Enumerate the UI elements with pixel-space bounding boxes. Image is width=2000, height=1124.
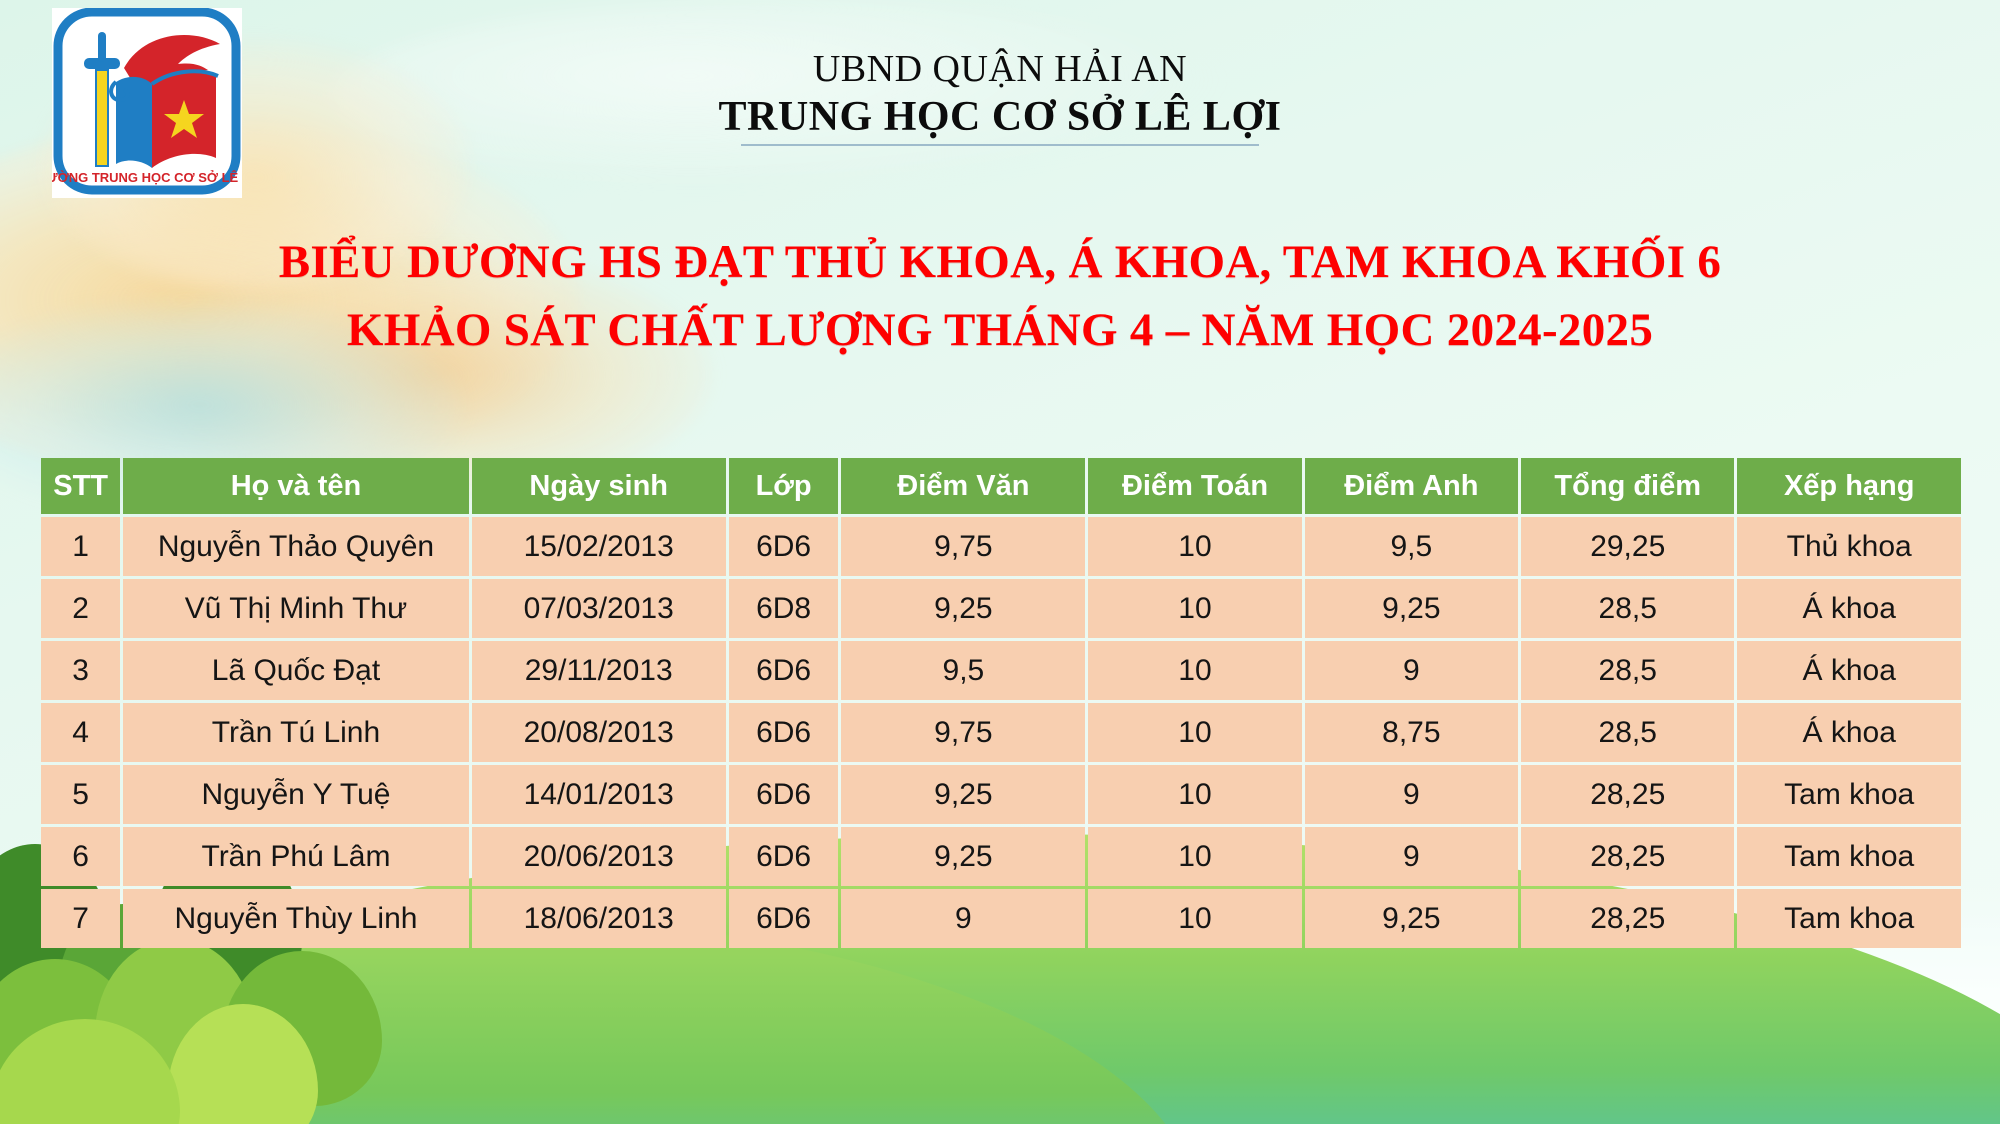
column-header-class: Lớp xyxy=(729,458,839,514)
cell-stt: 1 xyxy=(41,517,120,576)
cell-english: 8,75 xyxy=(1305,703,1518,762)
school-logo: TRƯỜNG TRUNG HỌC CƠ SỞ LÊ LỢI xyxy=(52,8,242,198)
cell-total: 28,25 xyxy=(1521,827,1734,886)
column-header-dob: Ngày sinh xyxy=(472,458,726,514)
cell-class: 6D6 xyxy=(729,765,839,824)
cell-stt: 5 xyxy=(41,765,120,824)
column-header-name: Họ và tên xyxy=(123,458,468,514)
cell-class: 6D6 xyxy=(729,703,839,762)
cell-dob: 20/08/2013 xyxy=(472,703,726,762)
score-table-head: STT Họ và tên Ngày sinh Lớp Điểm Văn Điể… xyxy=(41,458,1961,514)
cell-math: 10 xyxy=(1088,703,1301,762)
school-line-wrapper: TRUNG HỌC CƠ SỞ LÊ LỢI xyxy=(719,92,1282,142)
table-row: 2Vũ Thị Minh Thư07/03/20136D89,25109,252… xyxy=(41,579,1961,638)
cell-dob: 14/01/2013 xyxy=(472,765,726,824)
cell-math: 10 xyxy=(1088,765,1301,824)
school-line: TRUNG HỌC CƠ SỞ LÊ LỢI xyxy=(719,94,1282,140)
table-header-row: STT Họ và tên Ngày sinh Lớp Điểm Văn Điể… xyxy=(41,458,1961,514)
cell-english: 9 xyxy=(1305,827,1518,886)
cell-class: 6D6 xyxy=(729,641,839,700)
cell-rank: Tam khoa xyxy=(1737,765,1961,824)
cell-rank: Á khoa xyxy=(1737,641,1961,700)
cell-stt: 3 xyxy=(41,641,120,700)
table-row: 6Trần Phú Lâm20/06/20136D69,2510928,25Ta… xyxy=(41,827,1961,886)
cell-literature: 9,25 xyxy=(841,765,1085,824)
cell-math: 10 xyxy=(1088,641,1301,700)
cell-math: 10 xyxy=(1088,889,1301,948)
cell-literature: 9 xyxy=(841,889,1085,948)
column-header-math: Điểm Toán xyxy=(1088,458,1301,514)
cell-rank: Á khoa xyxy=(1737,703,1961,762)
cell-english: 9,25 xyxy=(1305,889,1518,948)
org-line: UBND QUẬN HẢI AN xyxy=(380,46,1620,92)
cell-name: Vũ Thị Minh Thư xyxy=(123,579,468,638)
cell-stt: 6 xyxy=(41,827,120,886)
cell-name: Nguyễn Y Tuệ xyxy=(123,765,468,824)
column-header-stt: STT xyxy=(41,458,120,514)
table-row: 7Nguyễn Thùy Linh18/06/20136D69109,2528,… xyxy=(41,889,1961,948)
cell-english: 9 xyxy=(1305,765,1518,824)
cell-class: 6D6 xyxy=(729,827,839,886)
cell-rank: Á khoa xyxy=(1737,579,1961,638)
sky-wisp xyxy=(240,935,1340,1055)
cell-english: 9 xyxy=(1305,641,1518,700)
page-title-line-2: KHẢO SÁT CHẤT LƯỢNG THÁNG 4 – NĂM HỌC 20… xyxy=(0,296,2000,364)
cell-name: Trần Phú Lâm xyxy=(123,827,468,886)
cell-stt: 7 xyxy=(41,889,120,948)
cell-math: 10 xyxy=(1088,827,1301,886)
cell-rank: Tam khoa xyxy=(1737,827,1961,886)
page-title: BIỂU DƯƠNG HS ĐẠT THỦ KHOA, Á KHOA, TAM … xyxy=(0,228,2000,364)
cell-english: 9,5 xyxy=(1305,517,1518,576)
cell-dob: 07/03/2013 xyxy=(472,579,726,638)
cell-total: 28,5 xyxy=(1521,579,1734,638)
cell-math: 10 xyxy=(1088,579,1301,638)
cell-dob: 15/02/2013 xyxy=(472,517,726,576)
cell-total: 28,5 xyxy=(1521,703,1734,762)
bush-5 xyxy=(95,939,255,1104)
school-logo-icon: TRƯỜNG TRUNG HỌC CƠ SỞ LÊ LỢI xyxy=(52,8,242,198)
cell-rank: Tam khoa xyxy=(1737,889,1961,948)
table-row: 5Nguyễn Y Tuệ14/01/20136D69,2510928,25Ta… xyxy=(41,765,1961,824)
cell-name: Nguyễn Thùy Linh xyxy=(123,889,468,948)
cell-dob: 18/06/2013 xyxy=(472,889,726,948)
cell-stt: 4 xyxy=(41,703,120,762)
bush-8 xyxy=(0,1019,180,1124)
school-line-underline xyxy=(741,144,1259,146)
table-row: 4Trần Tú Linh20/08/20136D69,75108,7528,5… xyxy=(41,703,1961,762)
bush-6 xyxy=(222,951,382,1106)
cell-literature: 9,25 xyxy=(841,579,1085,638)
cell-literature: 9,5 xyxy=(841,641,1085,700)
cell-math: 10 xyxy=(1088,517,1301,576)
cell-total: 28,25 xyxy=(1521,889,1734,948)
slide-canvas: TRƯỜNG TRUNG HỌC CƠ SỞ LÊ LỢI UBND QUẬN … xyxy=(0,0,2000,1124)
cell-stt: 2 xyxy=(41,579,120,638)
cell-total: 28,25 xyxy=(1521,765,1734,824)
bush-4 xyxy=(0,959,140,1124)
cell-class: 6D8 xyxy=(729,579,839,638)
cell-name: Lã Quốc Đạt xyxy=(123,641,468,700)
logo-caption: TRƯỜNG TRUNG HỌC CƠ SỞ LÊ LỢI xyxy=(52,170,242,185)
table-row: 3Lã Quốc Đạt29/11/20136D69,510928,5Á kho… xyxy=(41,641,1961,700)
score-table-wrapper: STT Họ và tên Ngày sinh Lớp Điểm Văn Điể… xyxy=(38,455,1964,951)
bush-7 xyxy=(168,1004,318,1124)
column-header-literature: Điểm Văn xyxy=(841,458,1085,514)
header-text-block: UBND QUẬN HẢI AN TRUNG HỌC CƠ SỞ LÊ LỢI xyxy=(380,46,1620,142)
cell-literature: 9,75 xyxy=(841,517,1085,576)
cell-literature: 9,25 xyxy=(841,827,1085,886)
column-header-rank: Xếp hạng xyxy=(1737,458,1961,514)
score-table-body: 1Nguyễn Thảo Quyên15/02/20136D69,75109,5… xyxy=(41,517,1961,948)
cell-total: 28,5 xyxy=(1521,641,1734,700)
cell-dob: 29/11/2013 xyxy=(472,641,726,700)
cell-english: 9,25 xyxy=(1305,579,1518,638)
score-table: STT Họ và tên Ngày sinh Lớp Điểm Văn Điể… xyxy=(38,455,1964,951)
cell-total: 29,25 xyxy=(1521,517,1734,576)
cell-dob: 20/06/2013 xyxy=(472,827,726,886)
cell-literature: 9,75 xyxy=(841,703,1085,762)
table-row: 1Nguyễn Thảo Quyên15/02/20136D69,75109,5… xyxy=(41,517,1961,576)
page-title-line-1: BIỂU DƯƠNG HS ĐẠT THỦ KHOA, Á KHOA, TAM … xyxy=(0,228,2000,296)
cell-name: Nguyễn Thảo Quyên xyxy=(123,517,468,576)
cell-name: Trần Tú Linh xyxy=(123,703,468,762)
cell-class: 6D6 xyxy=(729,889,839,948)
column-header-english: Điểm Anh xyxy=(1305,458,1518,514)
column-header-total: Tổng điểm xyxy=(1521,458,1734,514)
cell-class: 6D6 xyxy=(729,517,839,576)
cell-rank: Thủ khoa xyxy=(1737,517,1961,576)
